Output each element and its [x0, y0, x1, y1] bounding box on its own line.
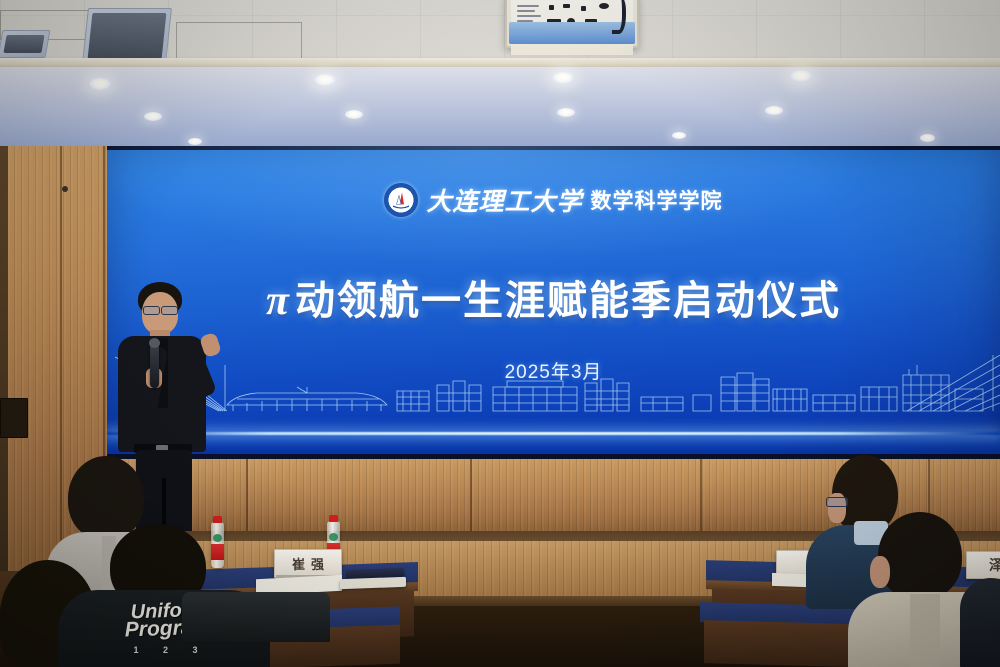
desk-nameplate-left: 崔 强 — [274, 549, 342, 578]
recessed-downlight — [144, 112, 162, 121]
recessed-downlight — [89, 78, 111, 90]
wall-sensor-icon — [62, 186, 68, 192]
led-presentation-screen: 大连理工大学 数学科学学院 π动领航一生涯赋能季启动仪式 2025年3月 — [107, 146, 1000, 459]
microphone-head — [149, 338, 160, 348]
lecture-hall-photo: 大连理工大学 数学科学学院 π动领航一生涯赋能季启动仪式 2025年3月 — [0, 0, 1000, 667]
recessed-downlight — [672, 132, 686, 139]
nameplate-char: 强 — [311, 554, 324, 573]
recessed-downlight — [314, 74, 336, 86]
audience-member-dark-jacket — [960, 578, 1000, 667]
glasses-icon — [826, 497, 848, 507]
department-name: 数学科学学院 — [591, 185, 723, 215]
dalian-skyline-graphic — [107, 355, 1000, 435]
recessed-downlight — [345, 110, 363, 119]
audience-shoulders — [960, 578, 1000, 667]
dut-sail-emblem-icon — [384, 183, 418, 217]
jacket-number-row: 1 2 3 — [106, 645, 236, 655]
glasses-icon — [161, 306, 178, 315]
jacket-zipper-line — [910, 594, 940, 667]
slide-title: π动领航一生涯赋能季启动仪式 — [107, 268, 1000, 326]
hvac-air-vent — [0, 30, 50, 58]
audience-head — [878, 512, 962, 600]
recessed-downlight — [790, 70, 812, 82]
ceiling-lower-panel — [0, 67, 1000, 147]
glasses-icon — [143, 306, 160, 315]
recessed-downlight — [920, 134, 935, 142]
screen-bezel — [107, 146, 1000, 150]
wall-panel-seam — [246, 459, 248, 531]
sail-glyph — [391, 191, 411, 209]
recessed-downlight — [188, 138, 202, 145]
recessed-downlight — [552, 72, 574, 84]
recessed-downlight — [557, 108, 575, 117]
wall-shadow-edge — [0, 146, 8, 571]
school-name: 大连理工大学 — [426, 182, 582, 218]
wall-mounted-plate — [0, 398, 28, 438]
audience-ear — [870, 556, 890, 588]
nameplate-char: 崔 — [292, 554, 305, 573]
wall-panel-seam — [700, 459, 702, 531]
slide-header: 大连理工大学 数学科学学院 — [107, 182, 1000, 218]
wall-panel-seam — [470, 459, 472, 531]
chair-back — [182, 592, 330, 642]
screen-water-band — [107, 432, 1000, 454]
pi-symbol: π — [266, 278, 291, 324]
hvac-air-vent — [82, 8, 172, 64]
handheld-microphone — [150, 342, 159, 388]
slide-title-text: 动领航一生涯赋能季启动仪式 — [295, 279, 841, 323]
screen-waterline-glow — [107, 432, 1000, 435]
recessed-downlight — [765, 106, 783, 115]
